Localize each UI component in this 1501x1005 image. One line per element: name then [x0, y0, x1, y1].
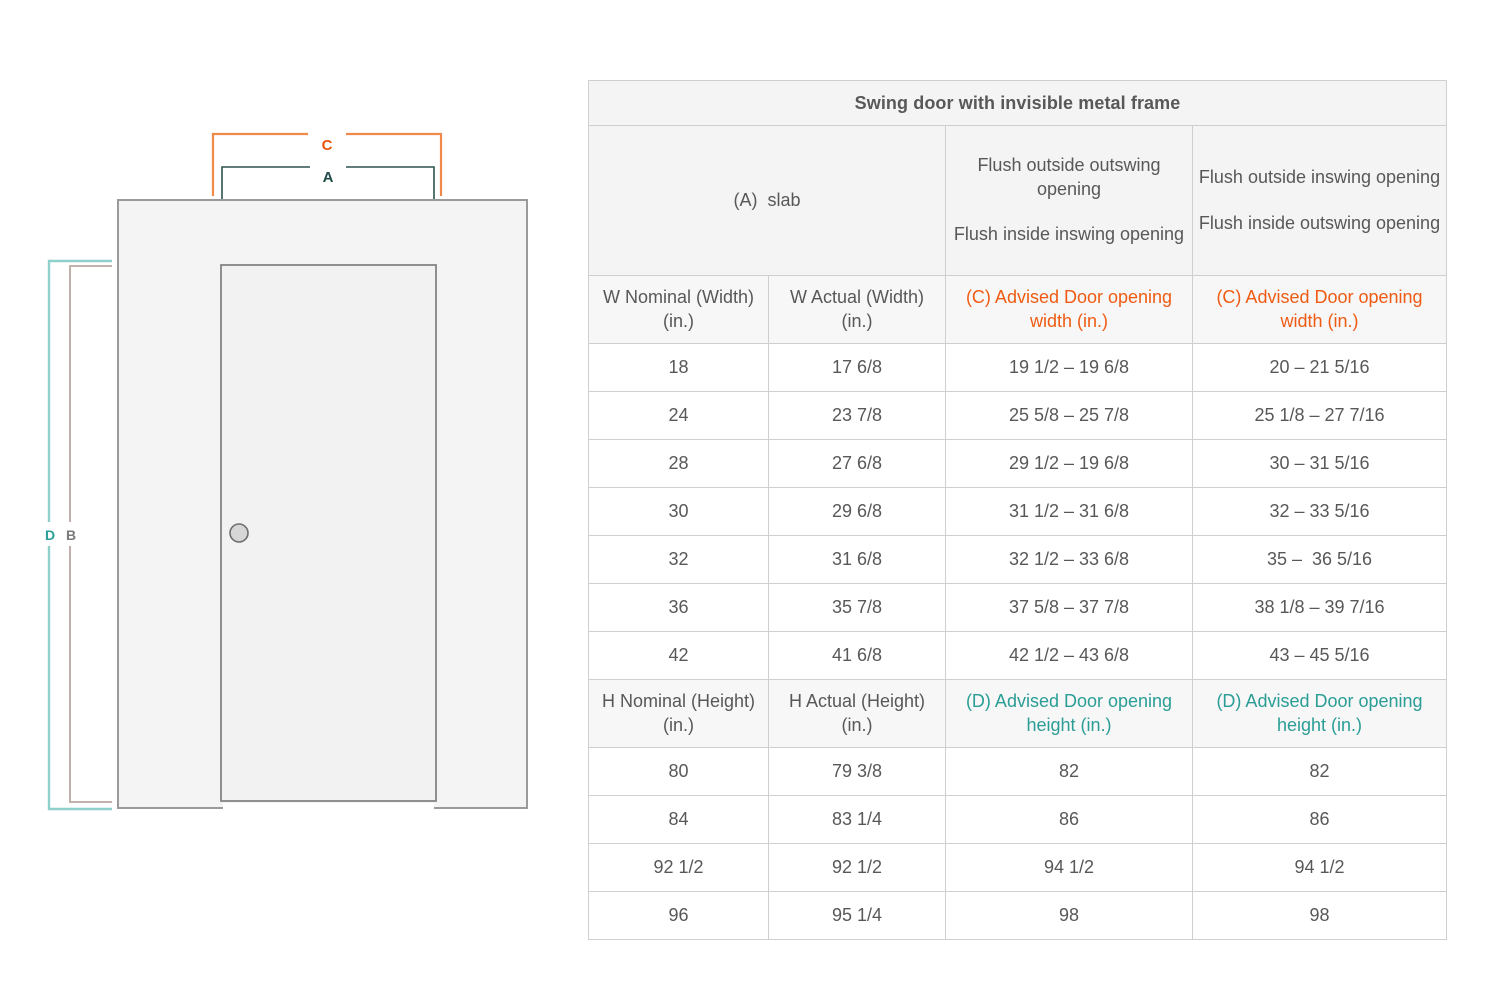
cell-h-nominal: 80: [589, 748, 769, 796]
cell-w-outswing: 25 5/8 – 25 7/8: [946, 392, 1193, 440]
table-row: 80 79 3/8 82 82: [589, 748, 1447, 796]
cell-w-actual: 29 6/8: [769, 488, 946, 536]
cell-w-actual: 31 6/8: [769, 536, 946, 584]
table-group-header-row: (A) slab Flush outside outswing opening …: [589, 126, 1447, 276]
cell-w-actual: 41 6/8: [769, 632, 946, 680]
cell-h-inswing: 94 1/2: [1193, 844, 1447, 892]
width-header-advised-outswing: (C) Advised Door opening width (in.): [946, 276, 1193, 344]
cell-h-nominal: 96: [589, 892, 769, 940]
width-header-advised-inswing: (C) Advised Door opening width (in.): [1193, 276, 1447, 344]
cell-w-nominal: 42: [589, 632, 769, 680]
height-header-advised-outswing: (D) Advised Door opening height (in.): [946, 680, 1193, 748]
cell-h-nominal: 92 1/2: [589, 844, 769, 892]
cell-h-inswing: 98: [1193, 892, 1447, 940]
dimension-bracket-b: B: [62, 266, 112, 802]
group-header-outswing-line1: Flush outside outswing opening: [950, 154, 1188, 202]
width-header-nominal: W Nominal (Width) (in.): [589, 276, 769, 344]
group-header-outswing-line2: Flush inside inswing opening: [950, 223, 1188, 247]
table-row: 28 27 6/8 29 1/2 – 19 6/8 30 – 31 5/16: [589, 440, 1447, 488]
table-row: 32 31 6/8 32 1/2 – 33 6/8 35 – 36 5/16: [589, 536, 1447, 584]
cell-w-actual: 35 7/8: [769, 584, 946, 632]
cell-h-outswing: 94 1/2: [946, 844, 1193, 892]
table-title-row: Swing door with invisible metal frame: [589, 81, 1447, 126]
cell-w-inswing: 30 – 31 5/16: [1193, 440, 1447, 488]
table-row: 84 83 1/4 86 86: [589, 796, 1447, 844]
table-row: 24 23 7/8 25 5/8 – 25 7/8 25 1/8 – 27 7/…: [589, 392, 1447, 440]
cell-h-inswing: 86: [1193, 796, 1447, 844]
spec-table-container: Swing door with invisible metal frame (A…: [588, 80, 1446, 940]
table-row: 18 17 6/8 19 1/2 – 19 6/8 20 – 21 5/16: [589, 344, 1447, 392]
dimension-label-c: C: [322, 137, 333, 154]
table-row: 36 35 7/8 37 5/8 – 37 7/8 38 1/8 – 39 7/…: [589, 584, 1447, 632]
slab-word: slab: [768, 190, 801, 210]
table-row: 42 41 6/8 42 1/2 – 43 6/8 43 – 45 5/16: [589, 632, 1447, 680]
width-subheader-row: W Nominal (Width) (in.) W Actual (Width)…: [589, 276, 1447, 344]
cell-w-nominal: 18: [589, 344, 769, 392]
slab-letter: (A): [733, 190, 757, 210]
cell-h-actual: 79 3/8: [769, 748, 946, 796]
door-handle-icon: [230, 524, 248, 542]
dimension-label-a: A: [323, 169, 334, 186]
door-size-spec-table: Swing door with invisible metal frame (A…: [588, 80, 1447, 940]
cell-w-nominal: 36: [589, 584, 769, 632]
group-header-slab: (A) slab: [589, 126, 946, 276]
cell-h-inswing: 82: [1193, 748, 1447, 796]
width-header-actual: W Actual (Width) (in.): [769, 276, 946, 344]
table-row: 96 95 1/4 98 98: [589, 892, 1447, 940]
door-slab-rect: [221, 265, 436, 801]
cell-h-actual: 92 1/2: [769, 844, 946, 892]
cell-w-nominal: 32: [589, 536, 769, 584]
cell-h-nominal: 84: [589, 796, 769, 844]
height-header-advised-inswing: (D) Advised Door opening height (in.): [1193, 680, 1447, 748]
group-header-inswing-line2: Flush inside outswing opening: [1197, 212, 1442, 236]
door-diagram-svg: C A D B: [0, 0, 580, 1000]
dimension-label-b: B: [66, 527, 76, 543]
group-header-outswing: Flush outside outswing opening Flush ins…: [946, 126, 1193, 276]
height-header-nominal: H Nominal (Height) (in.): [589, 680, 769, 748]
cell-h-outswing: 86: [946, 796, 1193, 844]
cell-w-actual: 27 6/8: [769, 440, 946, 488]
cell-w-inswing: 35 – 36 5/16: [1193, 536, 1447, 584]
cell-h-actual: 83 1/4: [769, 796, 946, 844]
cell-w-actual: 23 7/8: [769, 392, 946, 440]
cell-w-outswing: 31 1/2 – 31 6/8: [946, 488, 1193, 536]
cell-w-inswing: 25 1/8 – 27 7/16: [1193, 392, 1447, 440]
cell-w-outswing: 42 1/2 – 43 6/8: [946, 632, 1193, 680]
door-bottom-gap: [223, 803, 434, 810]
cell-w-nominal: 24: [589, 392, 769, 440]
cell-w-inswing: 38 1/8 – 39 7/16: [1193, 584, 1447, 632]
cell-w-inswing: 43 – 45 5/16: [1193, 632, 1447, 680]
cell-w-inswing: 20 – 21 5/16: [1193, 344, 1447, 392]
door-dimension-diagram: C A D B: [0, 0, 580, 1000]
cell-w-nominal: 28: [589, 440, 769, 488]
group-header-inswing-line1: Flush outside inswing opening: [1197, 166, 1442, 190]
height-subheader-row: H Nominal (Height) (in.) H Actual (Heigh…: [589, 680, 1447, 748]
cell-h-outswing: 82: [946, 748, 1193, 796]
cell-w-nominal: 30: [589, 488, 769, 536]
cell-w-outswing: 37 5/8 – 37 7/8: [946, 584, 1193, 632]
cell-h-outswing: 98: [946, 892, 1193, 940]
cell-w-outswing: 32 1/2 – 33 6/8: [946, 536, 1193, 584]
dimension-label-d: D: [45, 527, 55, 543]
cell-w-inswing: 32 – 33 5/16: [1193, 488, 1447, 536]
cell-w-outswing: 19 1/2 – 19 6/8: [946, 344, 1193, 392]
cell-h-actual: 95 1/4: [769, 892, 946, 940]
height-header-actual: H Actual (Height) (in.): [769, 680, 946, 748]
group-header-inswing: Flush outside inswing opening Flush insi…: [1193, 126, 1447, 276]
table-row: 30 29 6/8 31 1/2 – 31 6/8 32 – 33 5/16: [589, 488, 1447, 536]
cell-w-actual: 17 6/8: [769, 344, 946, 392]
cell-w-outswing: 29 1/2 – 19 6/8: [946, 440, 1193, 488]
table-row: 92 1/2 92 1/2 94 1/2 94 1/2: [589, 844, 1447, 892]
table-title: Swing door with invisible metal frame: [589, 81, 1447, 126]
